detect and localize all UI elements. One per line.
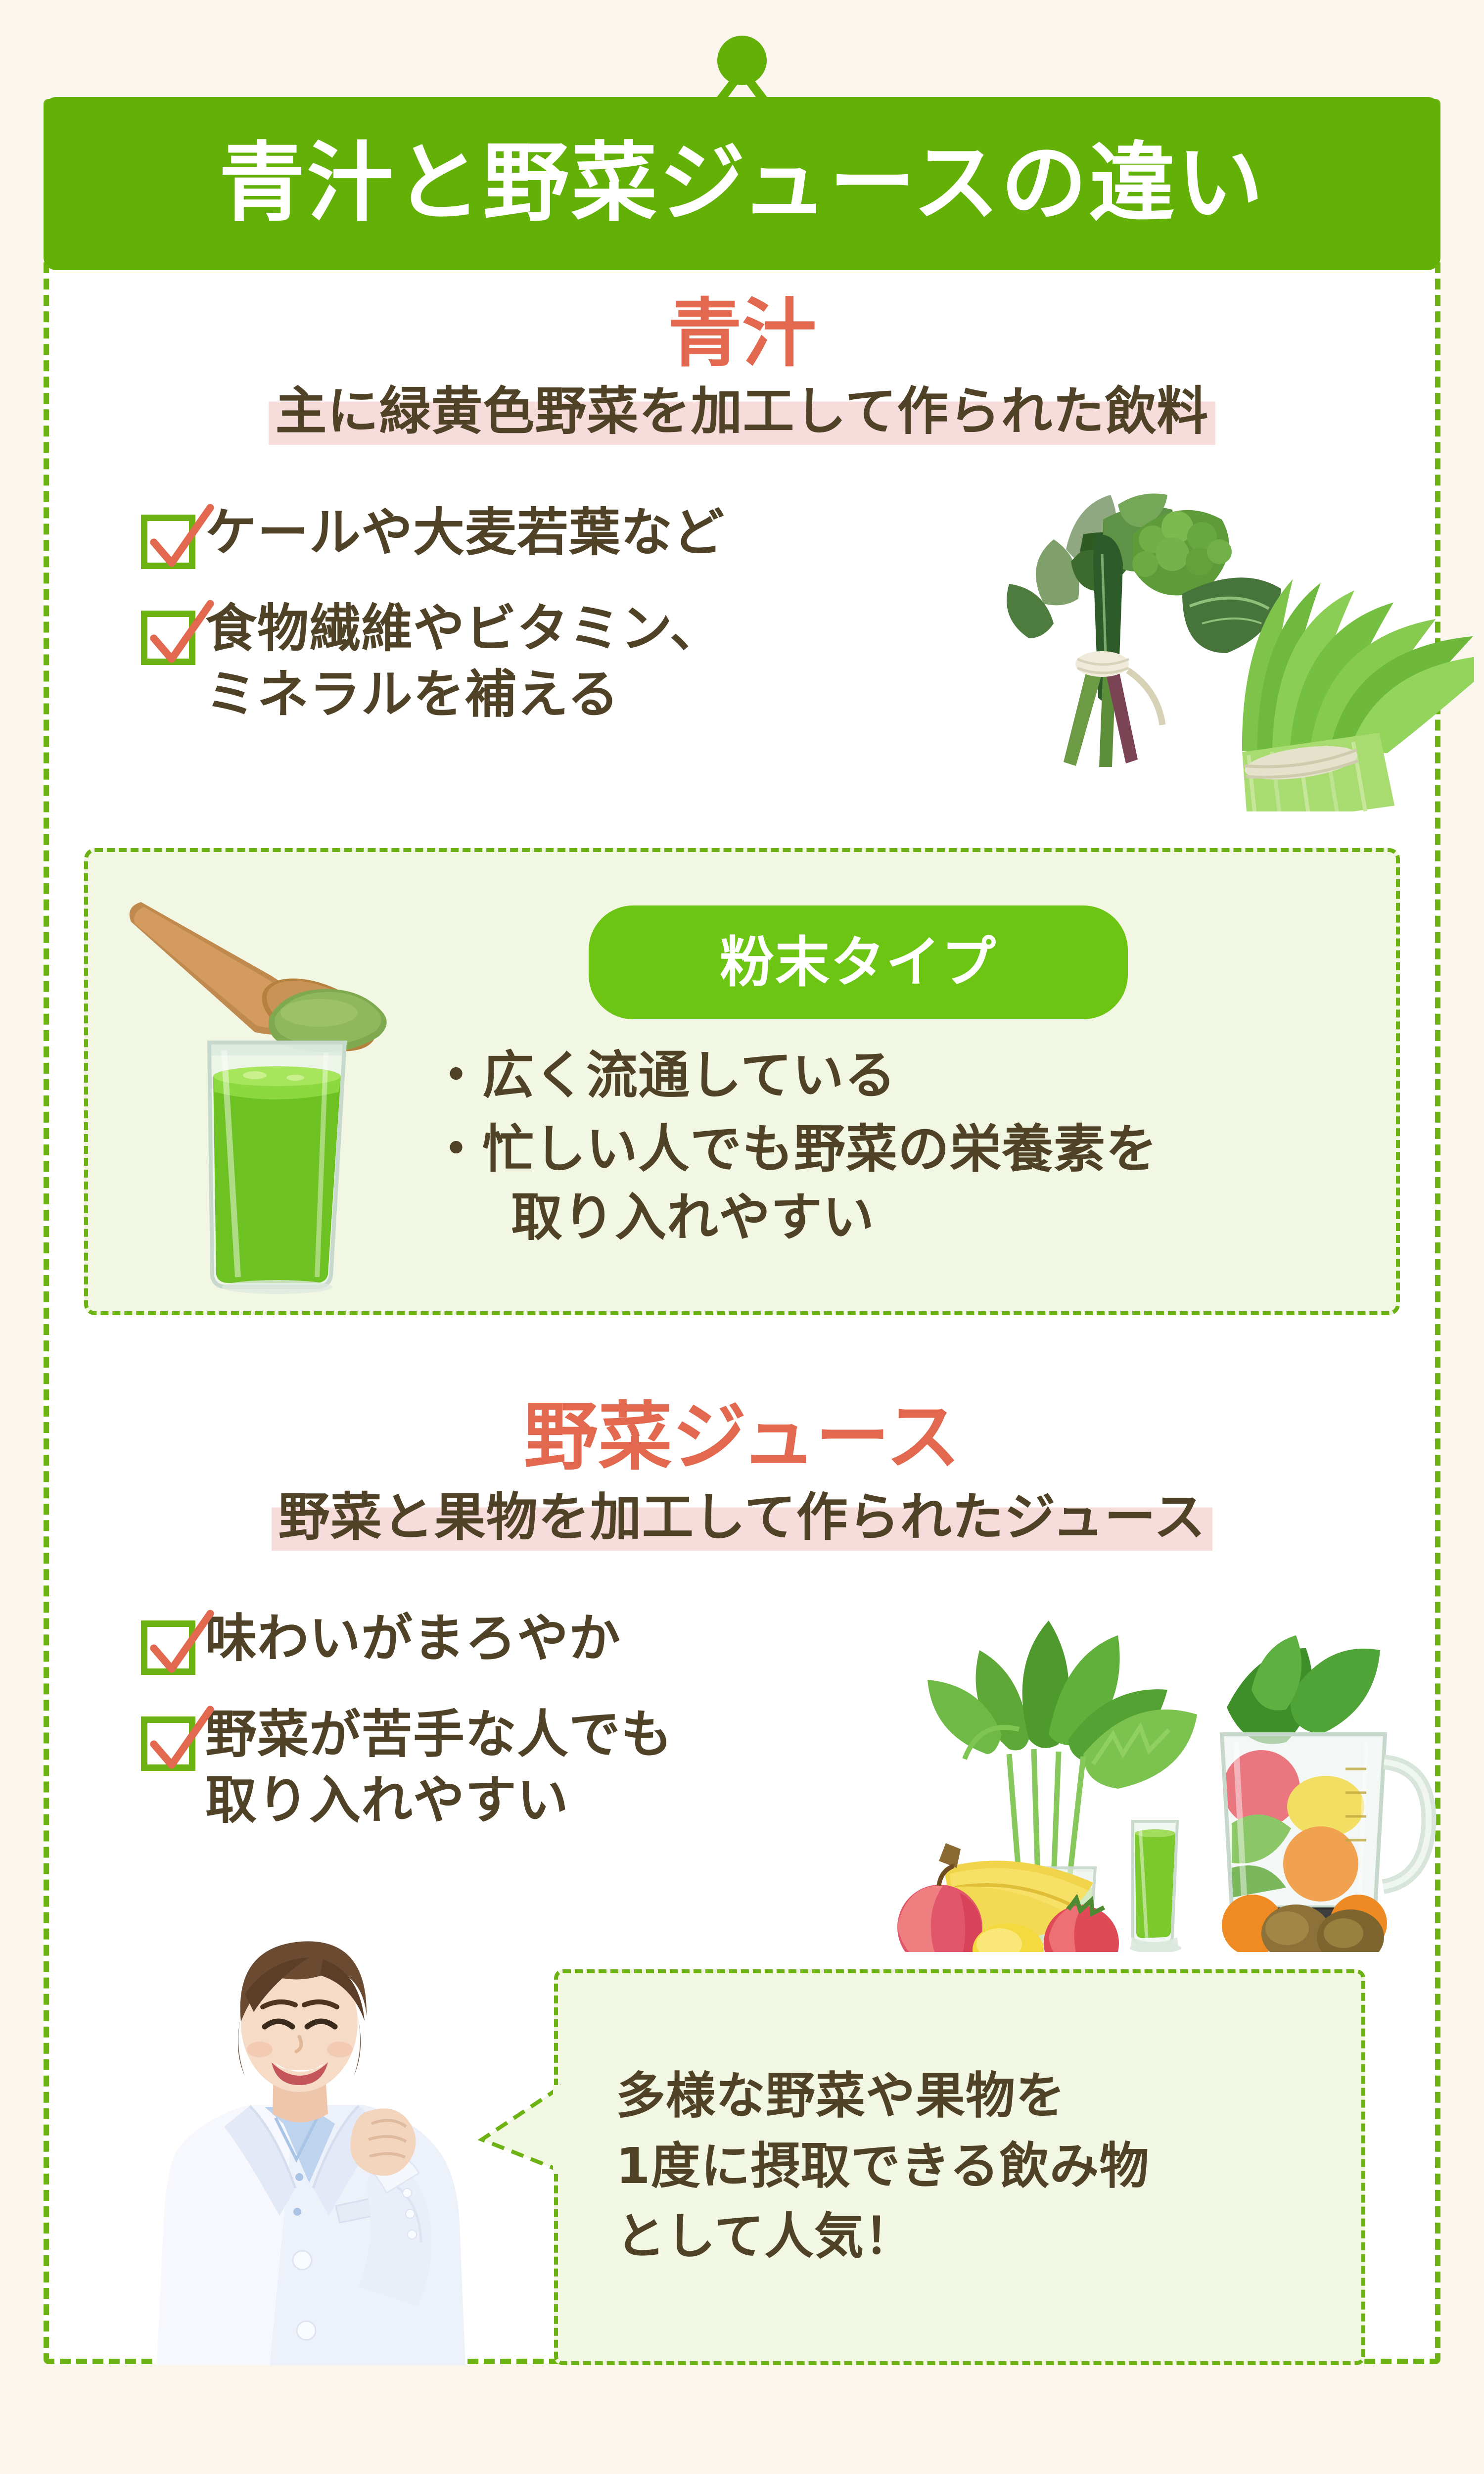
checkbox-checked-icon[interactable] — [141, 504, 196, 569]
check-item-label: 野菜が苦手な人でも 取り入れやすい — [205, 1702, 673, 1833]
check-item-label: 食物繊維やビタミン、 ミネラルを補える — [205, 596, 722, 727]
check-item[interactable]: 野菜が苦手な人でも 取り入れやすい — [141, 1702, 893, 1833]
checkbox-checked-icon[interactable] — [141, 600, 196, 665]
list-item: ・忙しい人でも野菜の栄養素を 取り入れやすい — [430, 1115, 1370, 1251]
check-item-label: 味わいがまろやか — [205, 1606, 621, 1671]
kale-and-barley-grass-image — [970, 475, 1474, 811]
section-subtitle-aojiru: 主に緑黄色野菜を加工して作られた飲料 — [269, 381, 1216, 445]
list-item: ・広く流通している — [430, 1042, 1370, 1109]
infographic-page: 青汁と野菜ジュースの違い 青汁 主に緑黄色野菜を加工して作られた飲料 — [0, 0, 1484, 2474]
check-item[interactable]: 食物繊維やビタミン、 ミネラルを補える — [141, 596, 992, 727]
powder-type-badge: 粉末タイプ — [589, 905, 1128, 1019]
speech-bubble-text: 多様な野菜や果物を 1度に摂取できる飲み物 として人気！ — [616, 2061, 1348, 2272]
section-subtitle-yasai-juice: 野菜と果物を加工して作られたジュース — [272, 1487, 1212, 1551]
powder-type-badge-label: 粉末タイプ — [720, 935, 997, 990]
smiling-woman-in-lab-coat-image — [101, 1920, 527, 2365]
section-heading-aojiru: 青汁 — [0, 297, 1484, 371]
powder-bullet-list: ・広く流通している ・忙しい人でも野菜の栄養素を 取り入れやすい — [430, 1042, 1370, 1257]
page-title: 青汁と野菜ジュースの違い — [219, 141, 1265, 227]
section-subtitle-wrap-yasai-juice: 野菜と果物を加工して作られたジュース — [0, 1487, 1484, 1551]
hanging-hook-icon — [668, 30, 816, 129]
checkbox-checked-icon[interactable] — [141, 1706, 196, 1771]
section-heading-yasai-juice: 野菜ジュース — [0, 1400, 1484, 1475]
check-item-label: ケールや大麦若葉など — [205, 500, 725, 566]
checkbox-checked-icon[interactable] — [141, 1610, 196, 1675]
vegetables-fruits-blender-image — [885, 1591, 1454, 1952]
section-subtitle-wrap-aojiru: 主に緑黄色野菜を加工して作られた飲料 — [0, 381, 1484, 445]
check-item[interactable]: ケールや大麦若葉など — [141, 500, 992, 569]
checklist-yasai-juice: 味わいがまろやか 野菜が苦手な人でも 取り入れやすい — [141, 1606, 893, 1860]
check-item[interactable]: 味わいがまろやか — [141, 1606, 893, 1675]
checklist-aojiru: ケールや大麦若葉など 食物繊維やビタミン、 ミネラルを補える — [141, 500, 992, 754]
green-juice-glass-with-powder-spoon-image — [121, 868, 428, 1294]
